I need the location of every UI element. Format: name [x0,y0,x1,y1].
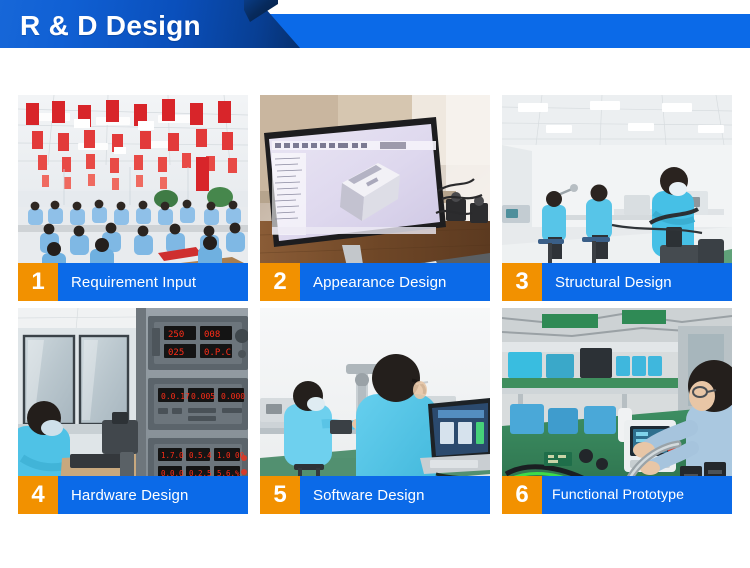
svg-text:0.5.4: 0.5.4 [189,451,212,460]
card-number-badge: 4 [18,476,58,514]
process-card[interactable]: 6 Functional Prototype [502,308,732,514]
card-caption: 2 Appearance Design [260,263,490,301]
card-number-badge: 1 [18,263,58,301]
svg-text:0.P.C: 0.P.C [204,348,231,358]
svg-text:008: 008 [204,330,220,340]
card-label: Appearance Design [300,263,490,301]
process-card[interactable]: 3 Structural Design [502,95,732,301]
card-number-badge: 2 [260,263,300,301]
svg-text:025: 025 [168,348,184,358]
card-label: Functional Prototype [542,476,732,514]
card-number-badge: 3 [502,263,542,301]
card-label: Software Design [300,476,490,514]
process-card[interactable]: 1 Requirement Input [18,95,248,301]
svg-text:250: 250 [168,330,184,340]
card-label: Requirement Input [58,263,248,301]
card-caption: 4 Hardware Design [18,476,248,514]
svg-text:1.7.0: 1.7.0 [161,451,184,460]
card-number-badge: 5 [260,476,300,514]
svg-text:1.0 00: 1.0 00 [217,451,245,460]
svg-text:0.000: 0.000 [221,392,245,401]
card-caption: 5 Software Design [260,476,490,514]
process-card[interactable]: 2 Appearance Design [260,95,490,301]
card-caption: 6 Functional Prototype [502,476,732,514]
card-label: Hardware Design [58,476,248,514]
page-title: R & D Design [20,4,201,48]
card-label: Structural Design [542,263,732,301]
process-card[interactable]: 5 Software Design [260,308,490,514]
process-card-grid: 1 Requirement Input [18,95,732,514]
card-number-badge: 6 [502,476,542,514]
page-header: R & D Design [0,0,750,56]
svg-text:0.005: 0.005 [191,392,215,401]
svg-text:0.0.17: 0.0.17 [161,392,190,401]
process-card[interactable]: 250008 0250.P.C 0.0.170.0050.000 [18,308,248,514]
card-caption: 1 Requirement Input [18,263,248,301]
card-caption: 3 Structural Design [502,263,732,301]
